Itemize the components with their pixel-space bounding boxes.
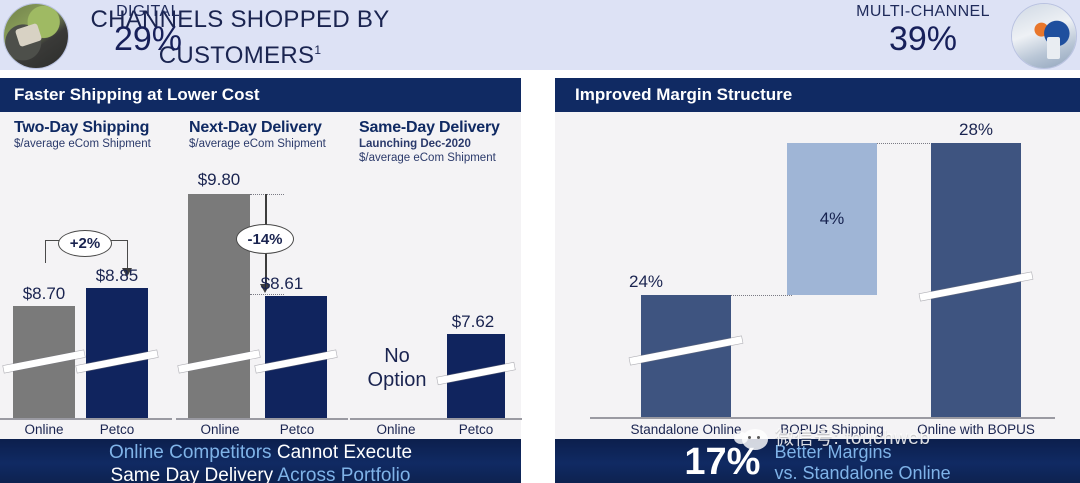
axis-break-slash	[178, 350, 260, 373]
connector-dotted-bottom	[250, 294, 284, 295]
waterfall-value-standalone: 24%	[596, 272, 696, 292]
header-stat-digital: DIGITAL 29%	[72, 0, 224, 58]
x-label-line1: BOPUS Shipping	[762, 422, 902, 438]
group-subtitle: $/average eCom Shipment	[359, 151, 524, 165]
x-label-line1: Petco	[253, 422, 341, 438]
waterfall-x-label-online-bopus: Online with BOPUS	[906, 422, 1046, 438]
group-title: Next-Day Delivery	[189, 118, 354, 137]
no-option-text: No Option	[352, 344, 442, 392]
customer-photo-avatar-image	[4, 4, 68, 68]
axis-break-slash	[3, 350, 85, 373]
x-label-line1: Standalone Online	[616, 422, 756, 438]
right-banner: 17% Better Margins vs. Standalone Online	[555, 439, 1080, 483]
group-subtitle: $/average eCom Shipment	[14, 137, 189, 151]
group-title: Same-Day Delivery	[359, 118, 524, 137]
waterfall-axis-line	[590, 417, 1055, 419]
store-photo-avatar-image	[1012, 4, 1076, 68]
left-banner: Online Competitors Cannot Execute Same D…	[0, 439, 521, 483]
callout-badge-next-day: -14%	[236, 224, 294, 254]
axis-line-two-day	[0, 418, 172, 420]
axis-break-slash	[76, 350, 158, 373]
bar-value-two-day-competitor: $8.70	[0, 284, 88, 304]
callout-badge-two-day: +2%	[58, 230, 112, 257]
x-label-line1: Online	[350, 422, 442, 438]
avatar	[1011, 3, 1077, 69]
header-stat-multichannel: MULTI-CHANNEL 39%	[838, 0, 1008, 58]
left-banner-line2: Same Day Delivery Across Portfolio	[0, 464, 521, 483]
panel-title-left: Faster Shipping at Lower Cost	[0, 78, 521, 112]
x-label-line1: Petco	[73, 422, 161, 438]
x-label-line1: Online	[176, 422, 264, 438]
page-title-footnote: 1	[314, 43, 321, 57]
left-chart-area: Two-Day Shipping $/average eCom Shipment…	[0, 112, 521, 439]
axis-break-slash	[437, 363, 515, 385]
x-label-line1: Online with BOPUS	[906, 422, 1046, 438]
group-subtitle-bold: Launching Dec-2020	[359, 137, 524, 151]
waterfall-value-bopus-savings: 4%	[782, 209, 882, 229]
waterfall-bar-standalone	[641, 295, 731, 417]
axis-break-slash	[919, 272, 1032, 301]
waterfall-bar-online-bopus	[931, 143, 1021, 417]
group-header-two-day: Two-Day Shipping $/average eCom Shipment	[14, 118, 189, 151]
panel-faster-shipping: Faster Shipping at Lower Cost Two-Day Sh…	[0, 78, 521, 483]
header-stat-digital-label: DIGITAL	[72, 2, 224, 22]
header-stat-multichannel-value: 39%	[838, 20, 1008, 58]
right-banner-content: 17% Better Margins vs. Standalone Online	[555, 440, 1080, 483]
header-bar: DIGITAL 29% CHANNELS SHOPPED BY CUSTOMER…	[0, 0, 1080, 70]
bar-next-day-competitor	[188, 194, 250, 418]
left-banner-line1: Online Competitors Cannot Execute	[0, 441, 521, 464]
panel-improved-margin: Improved Margin Structure 24% 4% 28% Sta…	[555, 78, 1080, 483]
axis-break-slash	[629, 336, 742, 365]
right-chart-area: 24% 4% 28% Standalone Online BOPUS Shipp…	[555, 112, 1080, 439]
left-banner-text: Online Competitors Cannot Execute Same D…	[0, 441, 521, 483]
x-label-two-day-petco: Petco	[73, 422, 161, 438]
right-banner-percent: 17%	[684, 441, 760, 483]
right-banner-line1: Better Margins	[774, 442, 950, 463]
axis-line-next-day	[176, 418, 348, 420]
no-option-line1: No	[352, 344, 442, 368]
waterfall-x-label-standalone: Standalone Online	[616, 422, 756, 438]
axis-line-same-day	[350, 418, 522, 420]
x-label-next-day-petco: Petco	[253, 422, 341, 438]
bar-value-two-day-petco: $8.85	[73, 266, 161, 286]
bar-two-day-competitor	[13, 306, 75, 418]
waterfall-value-online-bopus: 28%	[926, 120, 1026, 140]
bar-value-next-day-petco: $8.61	[238, 274, 326, 294]
header-stat-multichannel-label: MULTI-CHANNEL	[838, 2, 1008, 22]
bar-value-same-day-petco: $7.62	[429, 312, 517, 332]
avatar	[3, 3, 69, 69]
slide-canvas: DIGITAL 29% CHANNELS SHOPPED BY CUSTOMER…	[0, 0, 1080, 483]
axis-break-slash	[255, 350, 337, 373]
bar-same-day-petco	[447, 334, 505, 418]
group-subtitle: $/average eCom Shipment	[189, 137, 354, 151]
connector-dotted-top	[250, 194, 284, 195]
right-banner-line2: vs. Standalone Online	[774, 463, 950, 483]
x-label-line1: Petco	[432, 422, 520, 438]
bar-two-day-petco	[86, 288, 148, 418]
header-stat-digital-value: 29%	[72, 20, 224, 58]
bar-value-next-day-competitor: $9.80	[175, 170, 263, 190]
right-banner-text: Better Margins vs. Standalone Online	[774, 440, 950, 483]
no-option-line2: Option	[352, 368, 442, 392]
x-label-same-day-petco: Petco	[432, 422, 520, 438]
bar-next-day-petco	[265, 296, 327, 418]
group-header-next-day: Next-Day Delivery $/average eCom Shipmen…	[189, 118, 354, 151]
group-title: Two-Day Shipping	[14, 118, 189, 137]
panel-title-right: Improved Margin Structure	[555, 78, 1080, 112]
group-header-same-day: Same-Day Delivery Launching Dec-2020 $/a…	[359, 118, 524, 165]
